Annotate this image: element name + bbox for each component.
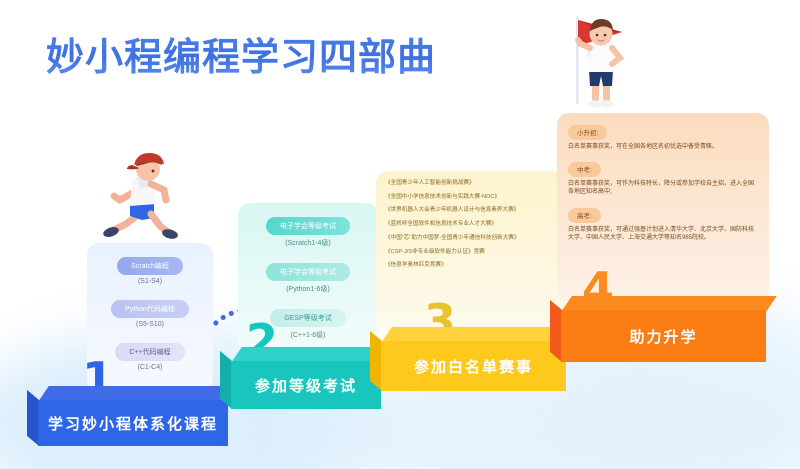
exam-item-scratch: 电子学会等级考试 (Scratch1-4级) [238,215,378,248]
benefit-college-exam: 高考: 白名单赛事获奖，可通过强基计划进入清华大学、北京大学、国防科技大学、中国… [568,205,759,243]
benefit-middle-exam: 中考: 白名单赛事获奖，可作为科技特长，降分或参加学校自主招，进入全国各地区知名… [568,159,759,197]
benefit-primary-to-middle: 小升初: 白名单赛事获奖，可在全国各地区名初优选中备受青睐。 [568,122,759,151]
step-1-podium[interactable]: 学习妙小程体系化课程 [38,386,228,446]
course-name-python: Python代码编程 [111,300,189,318]
boy-with-red-flag-icon [556,14,634,112]
list-item: 《全国中小学信息技术创新与实践大赛-NOC》 [385,194,559,202]
exam-name-python: 电子学会等级考试 [266,263,350,281]
course-name-scratch: Scratch编程 [117,257,183,275]
exam-name-gesp: GESP等级考试 [270,309,345,327]
course-item-scratch: Scratch编程 (S1-S4) [87,255,213,285]
list-item: 《CSP-J/S非专业级软件能力认证》竞赛 [385,249,559,257]
step-3-podium[interactable]: 参加白名单赛事 [381,327,566,391]
step-3-card: 《全国青少年人工智能创新挑战赛》 《全国中小学信息技术创新与实践大赛-NOC》 … [376,171,566,331]
course-range-python: (S5-S10) [87,321,213,328]
list-item: 《世界机器人大会青少年机器人设计与信息素养大赛》 [385,207,559,215]
benefit-text: 白名单赛事获奖，可作为科技特长，降分或参加学校自主招，进入全国各地区知名高中; [568,180,759,197]
exam-range-python: (Python1-6级) [238,284,378,294]
course-range-scratch: (S1-S4) [87,278,213,285]
benefit-tag: 小升初: [568,125,607,140]
step-1-label: 学习妙小程体系化课程 [38,400,228,446]
list-item: 《全国青少年人工智能创新挑战赛》 [385,180,559,188]
benefit-text: 白名单赛事获奖，可在全国各地区名初优选中备受青睐。 [568,143,759,152]
list-item: 《信息学奥林匹克竞赛》 [385,262,559,270]
exam-name-scratch: 电子学会等级考试 [266,217,350,235]
step-2-podium[interactable]: 参加等级考试 [231,347,381,409]
benefit-text: 白名单赛事获奖，可通过强基计划进入清华大学、北京大学、国防科技大学、中国人民大学… [568,226,759,243]
course-item-python: Python代码编程 (S5-S10) [87,298,213,328]
exam-item-python: 电子学会等级考试 (Python1-6级) [238,261,378,294]
benefit-tag: 中考: [568,162,601,177]
list-item: 《中国"芯"助力中国梦-全国青少年通信科技创新大赛》 [385,235,559,243]
infographic-canvas: 妙小程编程学习四部曲 Scratch编程 (S1-S4) Python代码编程 … [0,0,800,469]
running-boy-icon [96,152,180,244]
benefit-tag: 高考: [568,208,601,223]
page-title: 妙小程编程学习四部曲 [46,26,436,81]
step-4-label: 助力升学 [561,310,766,362]
exam-range-scratch: (Scratch1-4级) [238,238,378,248]
benefit-list: 小升初: 白名单赛事获奖，可在全国各地区名初优选中备受青睐。 中考: 白名单赛事… [557,113,769,243]
step-2-label: 参加等级考试 [231,361,381,409]
step-4-podium[interactable]: 助力升学 [561,296,766,362]
course-name-cpp: C++代码编程 [115,343,184,361]
competition-list: 《全国青少年人工智能创新挑战赛》 《全国中小学信息技术创新与实践大赛-NOC》 … [376,171,566,270]
list-item: 《蓝桥杯全国软件和信息技术专业人才大赛》 [385,221,559,229]
step-3-label: 参加白名单赛事 [381,341,566,391]
